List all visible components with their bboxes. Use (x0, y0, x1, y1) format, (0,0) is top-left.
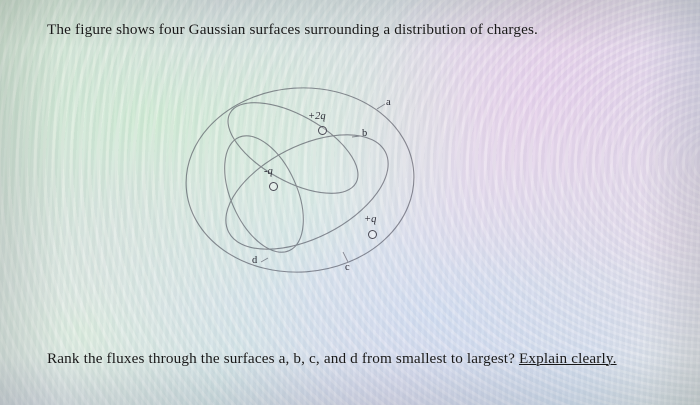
surface-label-a: a (386, 97, 391, 108)
leader-line-a (377, 104, 385, 109)
charge-marker-minus-q (269, 182, 278, 191)
question-paragraph: Rank the fluxes through the surfaces a, … (47, 349, 647, 369)
leader-line-b (352, 136, 360, 137)
charge-label-plus-q: +q (364, 214, 376, 225)
leader-line-c (343, 252, 348, 262)
surface-label-b: b (362, 128, 367, 139)
surface-c-outline (208, 111, 407, 273)
figure-drawing (172, 62, 432, 302)
charge-marker-plus-q (368, 230, 377, 239)
question-text-main: Rank the fluxes through the surfaces a, … (47, 350, 515, 367)
leader-line-d (261, 258, 268, 262)
intro-paragraph: The figure shows four Gaussian surfaces … (47, 20, 647, 40)
screenshot-page: The figure shows four Gaussian surfaces … (0, 0, 700, 405)
charge-label-minus-q: -q (264, 166, 273, 177)
charge-marker-plus-2q (318, 126, 327, 135)
question-text-emphasis: Explain clearly. (519, 350, 617, 367)
charge-label-plus-2q: +2q (308, 111, 326, 122)
gaussian-surfaces-figure: +2q -q +q a b c d (172, 62, 432, 302)
surface-label-c: c (345, 262, 350, 273)
surface-label-d: d (252, 255, 257, 266)
